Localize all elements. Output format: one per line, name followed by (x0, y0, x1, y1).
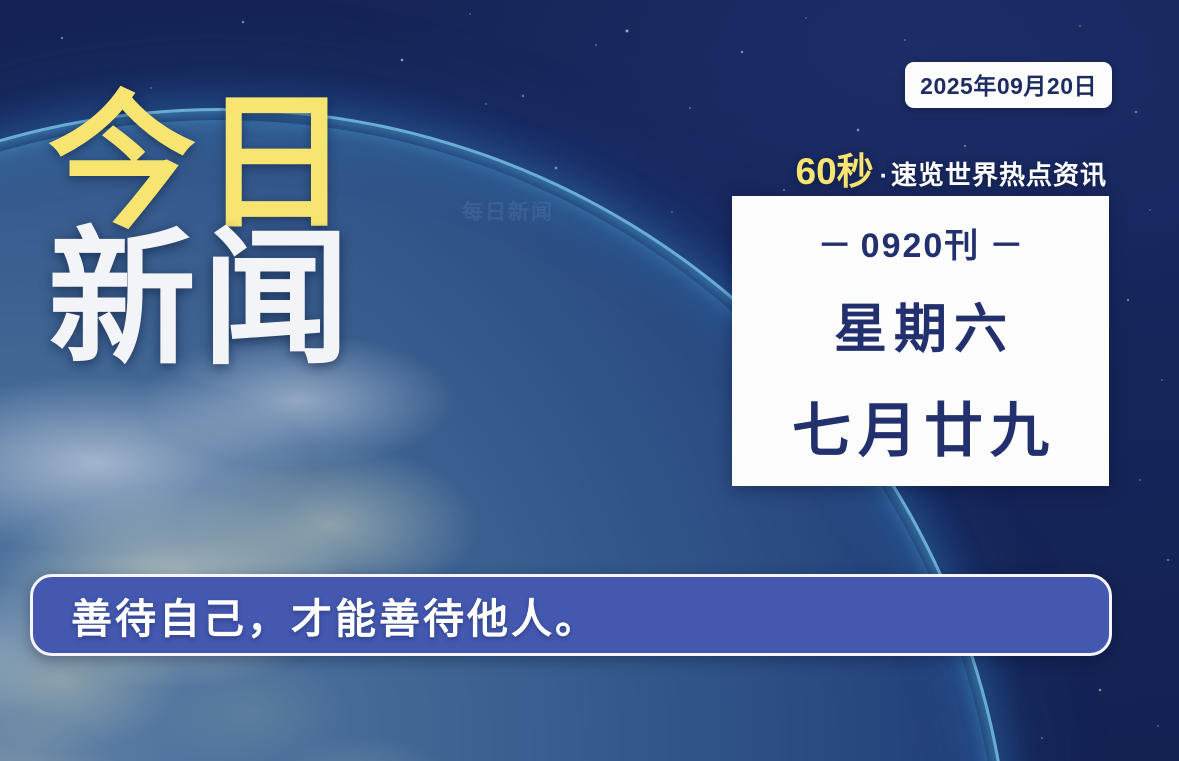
lunar-date-label: 七月廿九 (785, 383, 1056, 468)
weekday-label: 星期六 (827, 287, 1014, 363)
dash-right-icon: － (980, 227, 1032, 265)
dash-left-icon: － (809, 227, 861, 265)
tagline: 60秒·速览世界热点资讯 (796, 141, 1108, 195)
masthead-line-1: 今日 (48, 96, 356, 232)
issue-number: 0920刊 (861, 227, 981, 265)
tagline-rest: 速览世界热点资讯 (891, 160, 1107, 190)
date-badge: 2025年09月20日 (905, 62, 1112, 108)
tagline-separator-dot: · (874, 162, 891, 190)
issue-card: －0920刊－ 星期六 七月廿九 (732, 196, 1109, 486)
quote-bar: 善待自己，才能善待他人。 (30, 574, 1112, 656)
background-watermark: 每日新闻 (462, 196, 554, 226)
news-poster: 每日新闻 今日 新闻 2025年09月20日 60秒·速览世界热点资讯 －092… (0, 0, 1179, 761)
quote-text: 善待自己，才能善待他人。 (33, 585, 599, 645)
issue-number-row: －0920刊－ (809, 218, 1033, 267)
page-title: 今日 新闻 (48, 96, 356, 368)
tagline-highlight: 60秒 (796, 151, 874, 192)
masthead-line-2: 新闻 (48, 232, 356, 368)
